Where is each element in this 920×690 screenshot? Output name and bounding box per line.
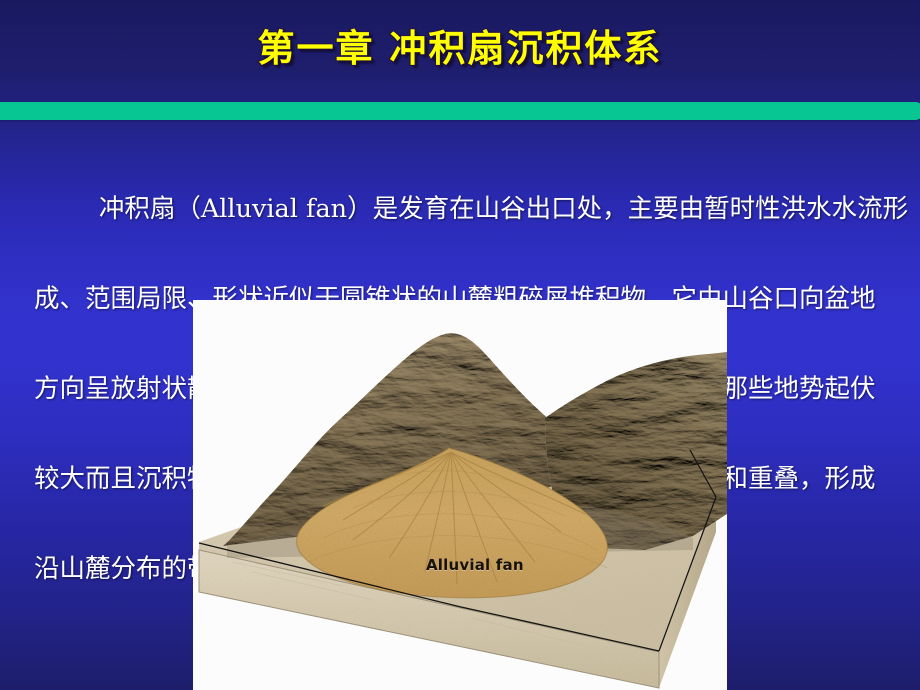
slide-title-container: 第一章 冲积扇沉积体系 <box>0 26 920 72</box>
page-title: 第一章 冲积扇沉积体系 <box>258 26 663 72</box>
slide-canvas: 第一章 冲积扇沉积体系 冲积扇（Alluvial fan）是发育在山谷出口处，主… <box>0 0 920 690</box>
title-divider-bar <box>0 102 920 120</box>
alluvial-fan-label: Alluvial fan <box>426 556 524 574</box>
block-diagram-illustration <box>193 300 727 690</box>
alluvial-fan-block-diagram: Alluvial fan <box>193 300 727 690</box>
body-line-1: 冲积扇（Alluvial fan）是发育在山谷出口处，主要由暂时性洪水水流形 <box>34 194 890 224</box>
